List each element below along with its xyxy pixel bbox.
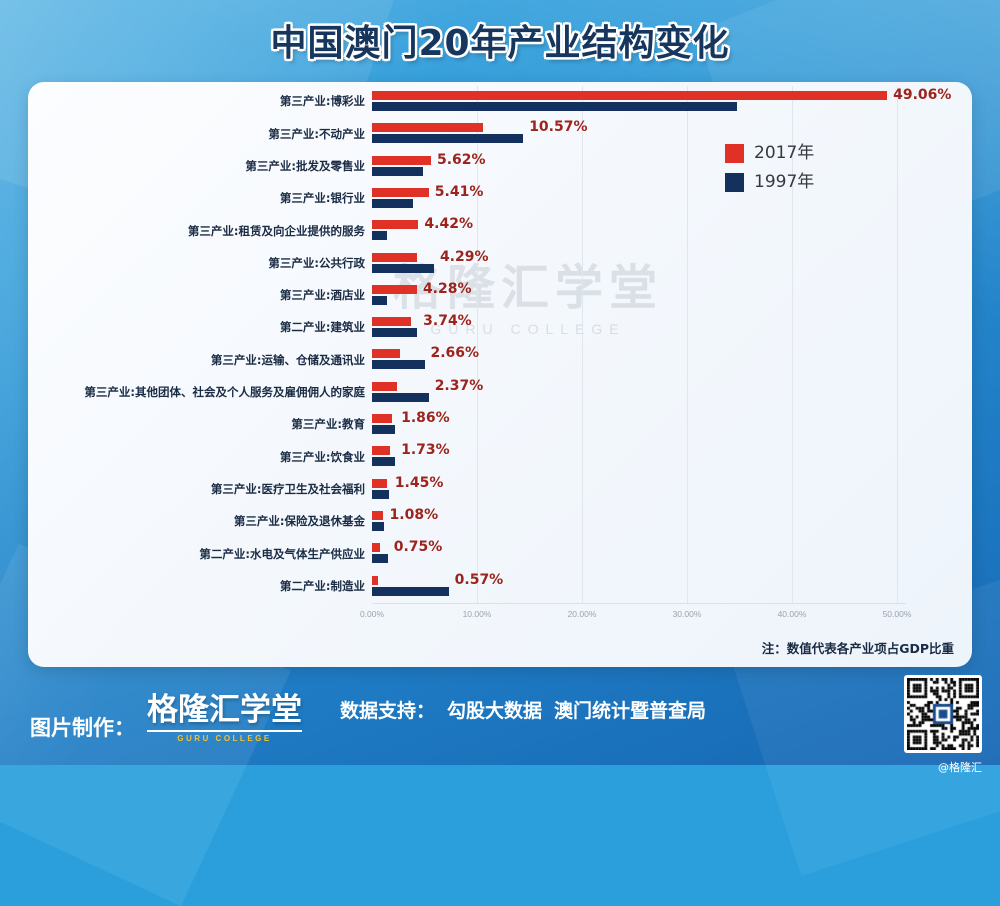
footer: 图片制作： 格隆汇学堂 GURU COLLEGE 数据支持： 勾股大数据 澳门统… — [0, 669, 1000, 765]
category-label: 第三产业:医疗卫生及社会福利 — [28, 484, 372, 496]
bar-1997[interactable] — [372, 587, 449, 596]
bar-group: 1.08% — [372, 506, 972, 538]
qr-container[interactable]: @格隆汇 — [904, 675, 982, 775]
chart-row: 第三产业:公共行政4.29% — [28, 248, 972, 280]
bar-value-label: 4.42% — [424, 216, 473, 233]
category-label: 第三产业:运输、仓储及通讯业 — [28, 355, 372, 367]
bar-2017[interactable] — [372, 123, 483, 132]
category-label: 第三产业:饮食业 — [28, 452, 372, 464]
bar-value-label: 5.62% — [437, 152, 486, 169]
bar-group: 2.37% — [372, 377, 972, 409]
category-label: 第三产业:博彩业 — [28, 96, 372, 108]
chart-row: 第三产业:不动产业10.57% — [28, 118, 972, 150]
bar-value-label: 1.45% — [395, 475, 444, 492]
x-tick-label: 10.00% — [463, 609, 492, 619]
bar-2017[interactable] — [372, 511, 383, 520]
legend-swatch-red-icon — [725, 144, 744, 163]
bar-group: 4.29% — [372, 248, 972, 280]
source-label: 数据支持： — [340, 702, 435, 721]
bar-1997[interactable] — [372, 264, 434, 273]
bar-value-label: 4.29% — [440, 249, 489, 266]
brand-name-cn: 格隆汇学堂 — [147, 695, 302, 726]
category-label: 第三产业:公共行政 — [28, 258, 372, 270]
chart-row: 第三产业:酒店业4.28% — [28, 280, 972, 312]
chart-row: 第三产业:保险及退休基金1.08% — [28, 506, 972, 538]
x-tick-label: 30.00% — [673, 609, 702, 619]
bar-2017[interactable] — [372, 220, 418, 229]
bar-value-label: 0.57% — [455, 572, 504, 589]
bar-2017[interactable] — [372, 285, 417, 294]
chart-card: 格隆汇学堂 GURU COLLEGE 0.00%10.00%20.00%30.0… — [28, 82, 972, 667]
bar-2017[interactable] — [372, 156, 431, 165]
chart-row: 第二产业:制造业0.57% — [28, 571, 972, 603]
category-label: 第三产业:银行业 — [28, 193, 372, 205]
bar-group: 10.57% — [372, 118, 972, 150]
category-label: 第三产业:保险及退休基金 — [28, 516, 372, 528]
x-tick-label: 20.00% — [568, 609, 597, 619]
category-label: 第三产业:不动产业 — [28, 129, 372, 141]
chart-row: 第二产业:水电及气体生产供应业0.75% — [28, 538, 972, 570]
x-axis-line — [372, 603, 906, 604]
bar-group: 1.86% — [372, 409, 972, 441]
legend-swatch-navy-icon — [725, 173, 744, 192]
bar-group: 5.41% — [372, 183, 972, 215]
bar-group: 1.73% — [372, 441, 972, 473]
bar-1997[interactable] — [372, 199, 413, 208]
chart-row: 第三产业:运输、仓储及通讯业2.66% — [28, 344, 972, 376]
bar-group: 2.66% — [372, 344, 972, 376]
bar-value-label: 2.37% — [435, 378, 484, 395]
chart-row: 第三产业:饮食业1.73% — [28, 441, 972, 473]
bar-2017[interactable] — [372, 543, 380, 552]
chart-row: 第二产业:建筑业3.74% — [28, 312, 972, 344]
page-title: 中国澳门20年产业结构变化 — [270, 14, 729, 66]
bar-1997[interactable] — [372, 490, 389, 499]
bar-group: 3.74% — [372, 312, 972, 344]
brand-name-en: GURU COLLEGE — [177, 734, 271, 743]
bar-2017[interactable] — [372, 446, 390, 455]
bar-group: 1.45% — [372, 474, 972, 506]
bar-value-label: 0.75% — [394, 539, 443, 556]
legend-item-1997[interactable]: 1997年 — [725, 173, 814, 192]
bar-value-label: 1.08% — [390, 507, 439, 524]
source-name-1: 勾股大数据 — [447, 702, 542, 721]
bar-group: 5.62% — [372, 151, 972, 183]
legend-item-2017[interactable]: 2017年 — [725, 144, 814, 163]
legend-label-2017: 2017年 — [754, 145, 814, 162]
brand-divider — [147, 730, 302, 732]
bar-1997[interactable] — [372, 393, 429, 402]
bar-group: 49.06% — [372, 86, 972, 118]
bar-1997[interactable] — [372, 134, 523, 143]
category-label: 第三产业:教育 — [28, 419, 372, 431]
category-label: 第三产业:酒店业 — [28, 290, 372, 302]
bar-group: 4.28% — [372, 280, 972, 312]
category-label: 第二产业:制造业 — [28, 581, 372, 593]
bar-1997[interactable] — [372, 425, 395, 434]
footer-maker: 图片制作： 格隆汇学堂 GURU COLLEGE — [30, 695, 302, 743]
bar-value-label: 4.28% — [423, 281, 472, 298]
bar-group: 4.42% — [372, 215, 972, 247]
bar-1997[interactable] — [372, 102, 737, 111]
bar-1997[interactable] — [372, 328, 417, 337]
bar-group: 0.75% — [372, 538, 972, 570]
bar-2017[interactable] — [372, 479, 387, 488]
x-tick-label: 0.00% — [360, 609, 384, 619]
legend-label-1997: 1997年 — [754, 174, 814, 191]
chart-row: 第三产业:租赁及向企业提供的服务4.42% — [28, 215, 972, 247]
bar-2017[interactable] — [372, 188, 429, 197]
chart-legend: 2017年 1997年 — [725, 144, 814, 192]
chart-row: 第三产业:批发及零售业5.62% — [28, 151, 972, 183]
bar-value-label: 1.73% — [401, 442, 450, 459]
bar-2017[interactable] — [372, 91, 887, 100]
chart-note: 注：数值代表各产业项占GDP比重 — [762, 638, 954, 657]
bar-value-label: 1.86% — [401, 410, 450, 427]
bar-2017[interactable] — [372, 382, 397, 391]
category-label: 第三产业:批发及零售业 — [28, 161, 372, 173]
bar-2017[interactable] — [372, 414, 392, 423]
bar-value-label: 10.57% — [529, 119, 587, 136]
x-tick-label: 50.00% — [883, 609, 912, 619]
qr-handle-label: @格隆汇 — [904, 759, 982, 775]
bar-value-label: 49.06% — [893, 87, 951, 104]
x-tick-label: 40.00% — [778, 609, 807, 619]
chart-row: 第三产业:博彩业49.06% — [28, 86, 972, 118]
category-label: 第二产业:建筑业 — [28, 322, 372, 334]
footer-source: 数据支持： 勾股大数据 澳门统计暨普查局 — [340, 702, 706, 721]
bar-1997[interactable] — [372, 554, 388, 563]
category-label: 第三产业:其他团体、社会及个人服务及雇佣佣人的家庭 — [28, 387, 372, 399]
chart-row: 第三产业:医疗卫生及社会福利1.45% — [28, 474, 972, 506]
chart-row: 第三产业:银行业5.41% — [28, 183, 972, 215]
category-label: 第二产业:水电及气体生产供应业 — [28, 549, 372, 561]
chart-row: 第三产业:教育1.86% — [28, 409, 972, 441]
bar-group: 0.57% — [372, 571, 972, 603]
maker-label: 图片制作： — [30, 713, 135, 743]
bar-1997[interactable] — [372, 167, 423, 176]
qr-code-icon[interactable] — [904, 675, 982, 753]
bar-1997[interactable] — [372, 231, 387, 240]
bar-2017[interactable] — [372, 253, 417, 262]
source-name-2: 澳门统计暨普查局 — [554, 702, 706, 721]
bar-1997[interactable] — [372, 522, 384, 531]
title-container: 中国澳门20年产业结构变化 — [0, 14, 1000, 66]
bar-2017[interactable] — [372, 576, 378, 585]
chart-row: 第三产业:其他团体、社会及个人服务及雇佣佣人的家庭2.37% — [28, 377, 972, 409]
bar-1997[interactable] — [372, 360, 425, 369]
category-label: 第三产业:租赁及向企业提供的服务 — [28, 226, 372, 238]
bar-1997[interactable] — [372, 457, 395, 466]
bar-2017[interactable] — [372, 349, 400, 358]
bar-value-label: 5.41% — [435, 184, 484, 201]
bar-1997[interactable] — [372, 296, 387, 305]
bar-value-label: 2.66% — [431, 345, 480, 362]
brand-logo: 格隆汇学堂 GURU COLLEGE — [147, 695, 302, 743]
bar-chart-plot: 0.00%10.00%20.00%30.00%40.00%50.00%第三产业:… — [28, 82, 972, 667]
bar-value-label: 3.74% — [423, 313, 472, 330]
bar-2017[interactable] — [372, 317, 411, 326]
